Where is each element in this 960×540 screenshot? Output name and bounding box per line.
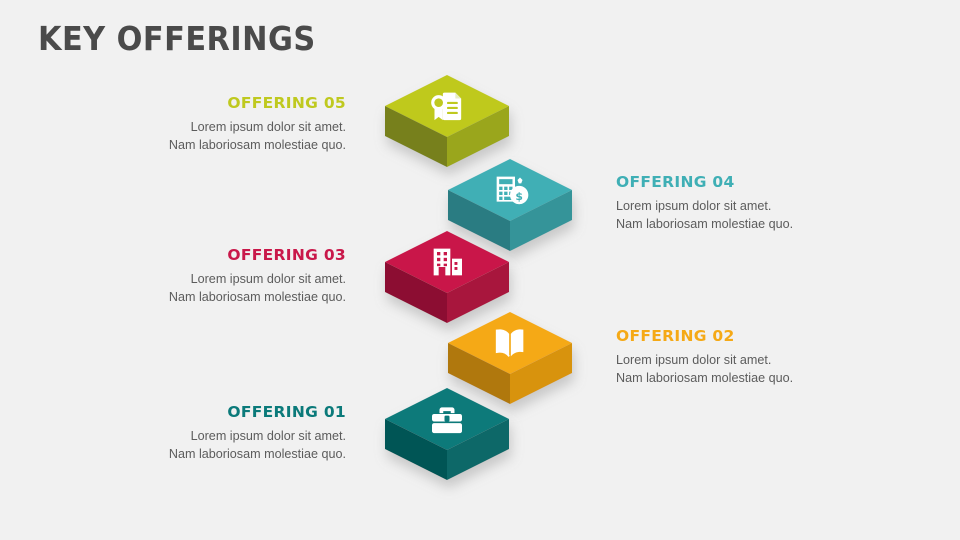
offering-04-desc-line2: Nam laboriosam molestiae quo. (616, 216, 916, 234)
offering-01-text-block: OFFERING 01 Lorem ipsum dolor sit amet. … (46, 403, 346, 463)
offering-04-desc-line1: Lorem ipsum dolor sit amet. (616, 198, 916, 216)
offering-04-text-block: OFFERING 04 Lorem ipsum dolor sit amet. … (616, 173, 916, 233)
offering-05-desc-line2: Nam laboriosam molestiae quo. (46, 137, 346, 155)
offering-05-label: OFFERING 05 (46, 94, 346, 112)
offering-02-text-block: OFFERING 02 Lorem ipsum dolor sit amet. … (616, 327, 916, 387)
offering-05-text-block: OFFERING 05 Lorem ipsum dolor sit amet. … (46, 94, 346, 154)
offering-05-desc-line1: Lorem ipsum dolor sit amet. (46, 119, 346, 137)
offering-03-label: OFFERING 03 (46, 246, 346, 264)
offering-01-desc-line1: Lorem ipsum dolor sit amet. (46, 428, 346, 446)
offering-03-desc-line1: Lorem ipsum dolor sit amet. (46, 271, 346, 289)
offering-01-cube[interactable] (385, 388, 509, 504)
offering-01-cube-shape (385, 388, 509, 504)
offering-01-label: OFFERING 01 (46, 403, 346, 421)
offering-02-desc-line1: Lorem ipsum dolor sit amet. (616, 352, 916, 370)
offering-03-desc-line2: Nam laboriosam molestiae quo. (46, 289, 346, 307)
offering-02-desc-line2: Nam laboriosam molestiae quo. (616, 370, 916, 388)
offering-04-label: OFFERING 04 (616, 173, 916, 191)
page-title: KEY OFFERINGS (38, 19, 316, 58)
offering-02-label: OFFERING 02 (616, 327, 916, 345)
offering-03-text-block: OFFERING 03 Lorem ipsum dolor sit amet. … (46, 246, 346, 306)
offering-01-desc-line2: Nam laboriosam molestiae quo. (46, 446, 346, 464)
